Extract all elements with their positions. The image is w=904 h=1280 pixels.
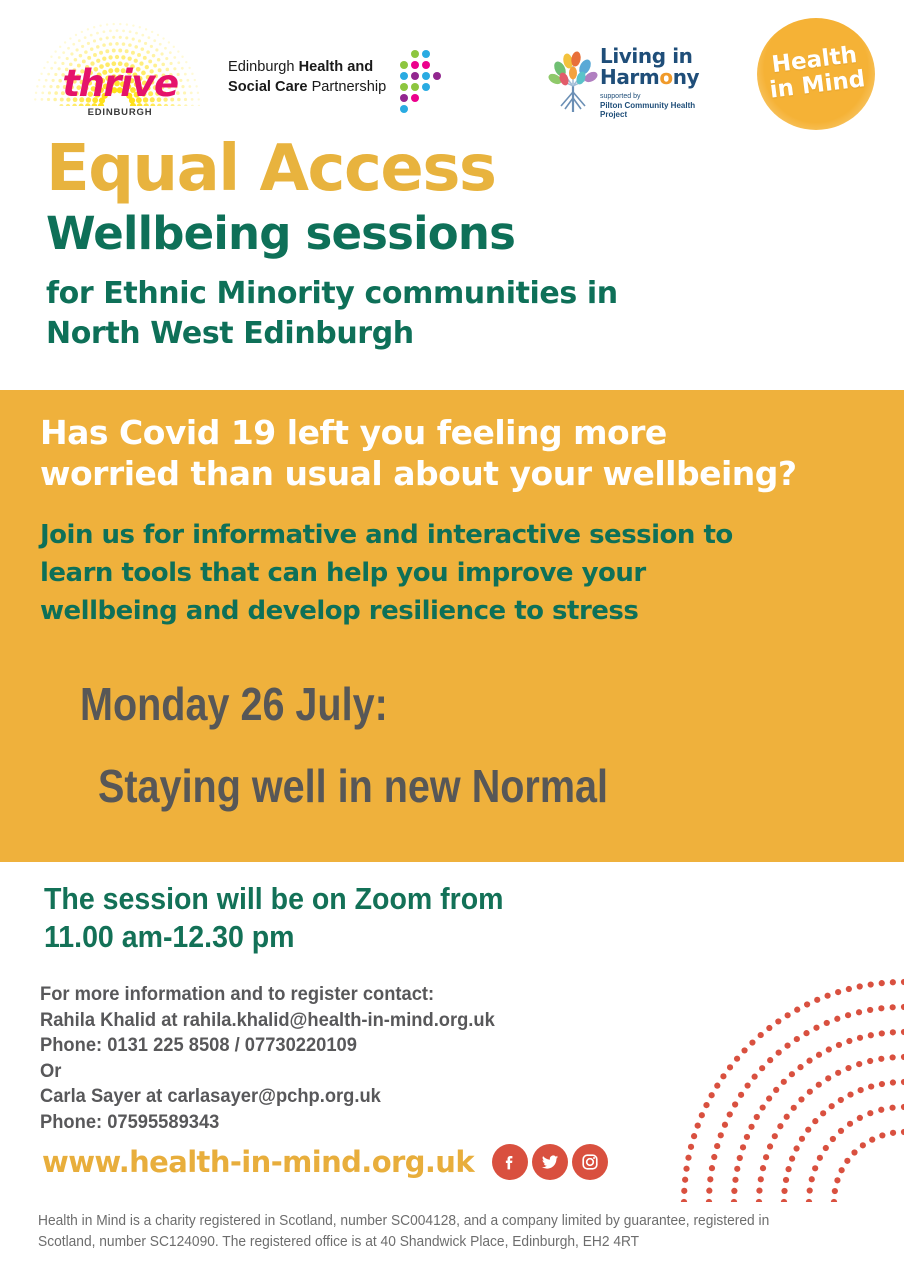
- banner-question: Has Covid 19 left you feeling more worri…: [40, 412, 880, 494]
- lih-line2-post: ny: [673, 65, 699, 89]
- footer-line-1: Health in Mind is a charity registered i…: [38, 1211, 827, 1232]
- page-title: Equal Access: [46, 134, 826, 204]
- banner-question-line-2: worried than usual about your wellbeing?: [40, 453, 880, 494]
- living-in-harmony-supporter: supported by Pilton Community Health Pro…: [600, 92, 718, 119]
- contact-intro: For more information and to register con…: [40, 982, 642, 1008]
- lih-partner-name: Pilton Community Health Project: [600, 101, 718, 119]
- ehscp-line2-bold: Social Care: [228, 79, 312, 95]
- banner-body-text: Join us for informative and interactive …: [40, 516, 870, 630]
- contact-phone-2: Phone: 07595589343: [40, 1110, 642, 1136]
- contact-phone-1: Phone: 0131 225 8508 / 07730220109: [40, 1033, 642, 1059]
- target-audience: for Ethnic Minority communities in North…: [46, 274, 826, 354]
- dotted-arc-decoration: [674, 962, 904, 1202]
- thrive-logo-wordmark: thrive: [40, 65, 200, 102]
- instagram-icon[interactable]: [572, 1144, 608, 1180]
- banner-body-line-1: Join us for informative and interactive …: [40, 516, 870, 554]
- lih-line2: Harmony: [600, 67, 699, 88]
- thrive-edinburgh-logo: thrive EDINBURGH: [34, 22, 200, 122]
- session-platform-info: The session will be on Zoom from 11.00 a…: [44, 880, 688, 956]
- contact-details: For more information and to register con…: [40, 982, 642, 1135]
- banner-body-line-3: wellbeing and develop resilience to stre…: [40, 592, 870, 630]
- living-in-harmony-wordmark: Living in Harmony: [600, 46, 699, 88]
- living-in-harmony-logo: Living in Harmony supported by Pilton Co…: [548, 46, 718, 118]
- ehscp-wordmark: Edinburgh Health and Social Care Partner…: [228, 57, 396, 97]
- website-and-social-row: www.health-in-mind.org.uk: [42, 1144, 608, 1180]
- banner-question-line-1: Has Covid 19 left you feeling more: [40, 412, 880, 453]
- contact-person-1: Rahila Khalid at rahila.khalid@health-in…: [40, 1008, 642, 1034]
- contact-person-2: Carla Sayer at carlasayer@pchp.org.uk: [40, 1084, 642, 1110]
- edinburgh-health-social-care-partnership-logo: Edinburgh Health and Social Care Partner…: [228, 52, 453, 114]
- zoom-info-line-2: 11.00 am-12.30 pm: [44, 918, 688, 956]
- ehscp-line1-bold: Health and: [299, 59, 374, 75]
- zoom-info-line-1: The session will be on Zoom from: [44, 880, 688, 918]
- poster-title-block: Equal Access Wellbeing sessions for Ethn…: [46, 134, 826, 354]
- ehscp-dot-grid-icon: [398, 46, 460, 114]
- twitter-icon[interactable]: [532, 1144, 568, 1180]
- contact-separator: Or: [40, 1059, 642, 1085]
- audience-line-2: North West Edinburgh: [46, 314, 826, 354]
- health-in-mind-logo: Health in Mind: [757, 18, 875, 130]
- ehscp-line2-plain: Partnership: [312, 79, 387, 95]
- website-url[interactable]: www.health-in-mind.org.uk: [42, 1145, 474, 1179]
- banner-body-line-2: learn tools that can help you improve yo…: [40, 554, 870, 592]
- thrive-logo-subtitle: EDINBURGH: [40, 107, 200, 118]
- session-date: Monday 26 July:: [80, 680, 388, 728]
- social-links: [492, 1144, 608, 1180]
- lih-line1: Living in: [600, 46, 699, 67]
- highlight-banner: Has Covid 19 left you feeling more worri…: [0, 390, 904, 862]
- ehscp-line1-plain: Edinburgh: [228, 59, 299, 75]
- harmony-tree-icon: [548, 46, 598, 112]
- lih-line2-pre: Harm: [600, 65, 659, 89]
- footer-line-2: Scotland, number SC124090. The registere…: [38, 1232, 827, 1253]
- session-topic: Staying well in new Normal: [98, 762, 608, 810]
- audience-line-1: for Ethnic Minority communities in: [46, 274, 826, 314]
- legal-footer: Health in Mind is a charity registered i…: [38, 1211, 827, 1253]
- logo-header-bar: thrive EDINBURGH Edinburgh Health and So…: [0, 0, 904, 140]
- page-subtitle: Wellbeing sessions: [46, 208, 826, 260]
- lih-supported-by: supported by: [600, 92, 718, 101]
- lih-line2-accent: o: [659, 65, 672, 89]
- facebook-icon[interactable]: [492, 1144, 528, 1180]
